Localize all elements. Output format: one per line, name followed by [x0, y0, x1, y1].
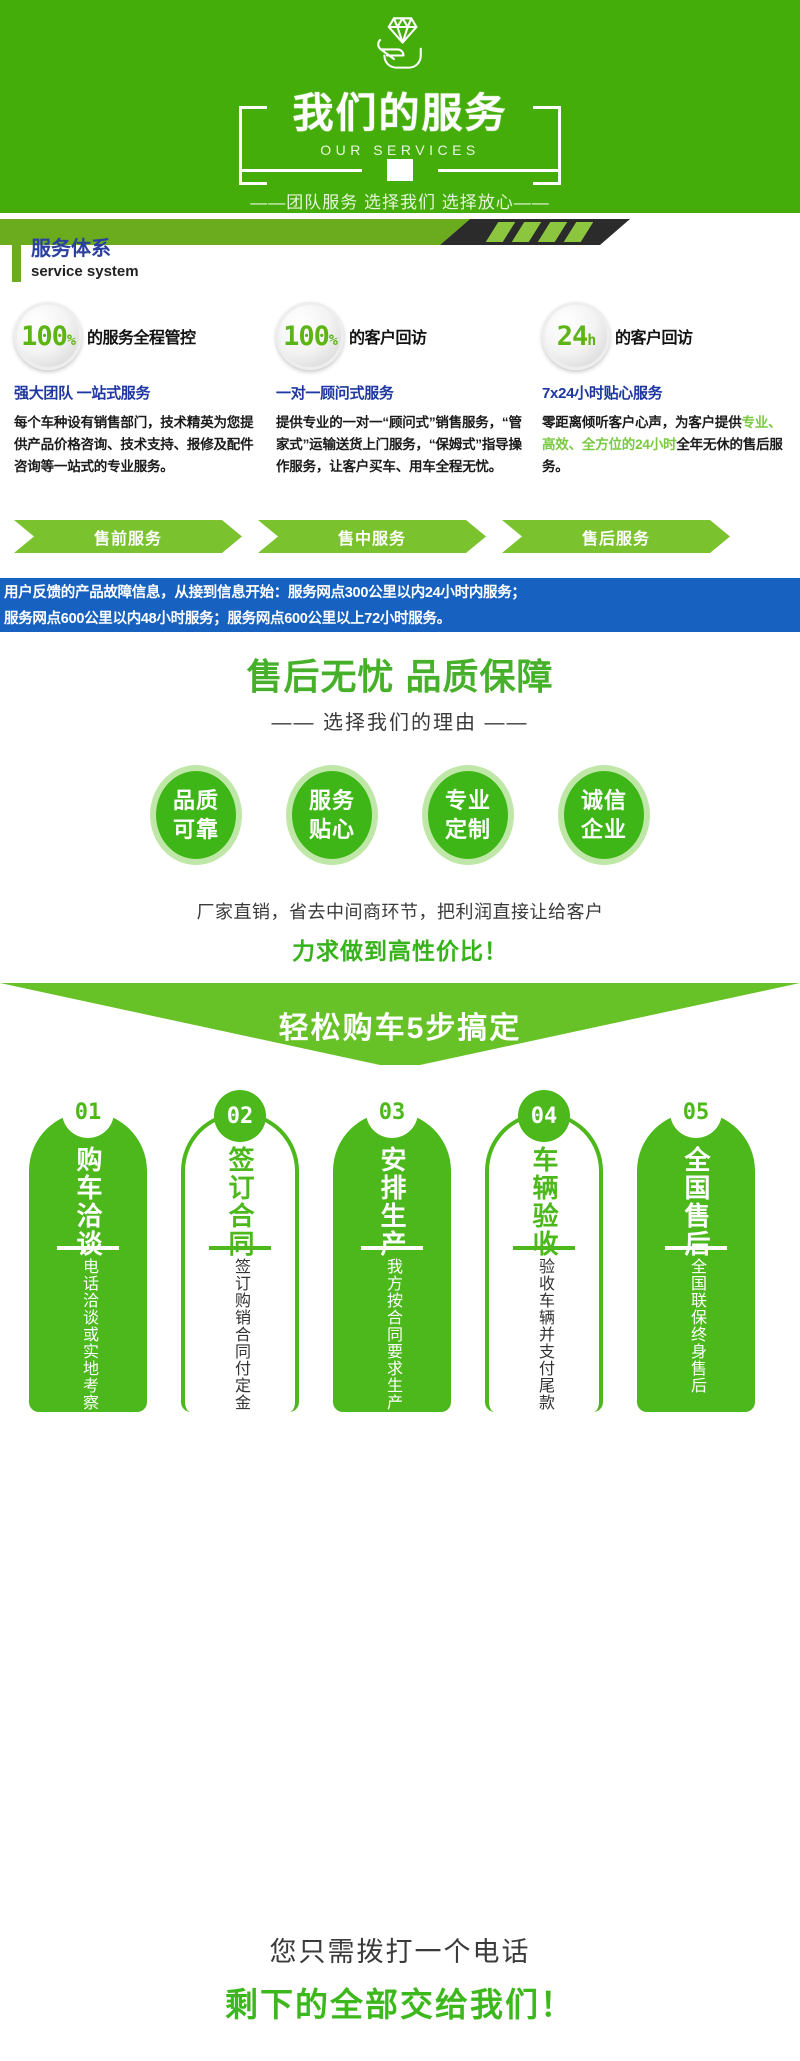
step-03-rule	[361, 1246, 423, 1250]
reason-oval-service: 服务 贴心	[286, 765, 378, 865]
metric-badge-1: 100%	[14, 302, 82, 370]
step-05-rule	[665, 1246, 727, 1250]
step-03-number: 03	[366, 1086, 418, 1138]
frame-bottom-left	[242, 169, 362, 172]
chevron-after-sales[interactable]: 售后服务	[502, 520, 730, 553]
step-04-number: 04	[518, 1090, 570, 1142]
service-column-3: 24h 的客户回访 7x24小时贴心服务 零距离倾听客户心声，为客户提供专业、高…	[532, 300, 798, 478]
step-04-rule	[513, 1246, 575, 1250]
step-05-desc: 全国联保终身售后	[684, 1258, 708, 1394]
page-title-en: OUR SERVICES	[239, 142, 561, 158]
reason-oval-3-line1: 专业	[445, 786, 491, 815]
hero-subtitle: ——团队服务 选择我们 选择放心——	[250, 188, 549, 213]
step-01-number: 01	[62, 1086, 114, 1138]
step-03-title: 安排生产	[375, 1146, 409, 1238]
footer-line-1: 您只需拨打一个电话	[0, 1930, 800, 1969]
service-columns: 100% 的服务全程管控 强大团队 一站式服务 每个车种设有销售部门，技术精英为…	[0, 300, 800, 478]
step-02-pill: 02 签订合同 签订购销合同付定金	[181, 1112, 299, 1412]
service-column-2-head: 一对一顾问式服务	[276, 382, 522, 403]
reason-oval-1-line1: 品质	[173, 786, 219, 815]
title-frame: 我们的服务 OUR SERVICES	[239, 82, 561, 172]
service-column-1-head: 强大团队 一站式服务	[14, 382, 256, 403]
step-05[interactable]: 05 全国售后 全国联保终身售后	[626, 1112, 766, 1412]
metric-badge-1-value: 100%	[21, 321, 75, 352]
section-heading-service-system: 服务体系 service system	[12, 238, 139, 282]
hero-banner: 我们的服务 OUR SERVICES ——团队服务 选择我们 选择放心——	[0, 0, 800, 213]
reason-oval-integrity: 诚信 企业	[558, 765, 650, 865]
reason-oval-2-line2: 贴心	[309, 815, 355, 844]
reason-oval-quality: 品质 可靠	[150, 765, 242, 865]
step-02-title: 签订合同	[223, 1146, 257, 1238]
step-02[interactable]: 02 签订合同 签订购销合同付定金	[170, 1112, 310, 1412]
chevron-pre-sales[interactable]: 售前服务	[14, 520, 242, 553]
service-column-1: 100% 的服务全程管控 强大团队 一站式服务 每个车种设有销售部门，技术精英为…	[0, 300, 266, 478]
step-02-rule	[209, 1246, 271, 1250]
service-stage-chevrons: 售前服务 售中服务 售后服务	[14, 520, 794, 553]
notice-line-2: 服务网点600公里以内48小时服务；服务网点600公里以上72小时服务。	[4, 606, 796, 632]
section-label-cn: 服务体系	[31, 238, 139, 261]
metric-badge-3: 24h	[542, 302, 610, 370]
promo-line-1: 厂家直销，省去中间商环节，把利润直接让给客户	[0, 898, 800, 924]
step-01-pill: 01 购车洽谈 电话洽谈或实地考察	[29, 1112, 147, 1412]
title-notch	[387, 159, 413, 181]
reason-oval-3-line2: 定制	[445, 815, 491, 844]
step-01-title: 购车洽谈	[71, 1146, 105, 1238]
service-column-2-body: 提供专业的一对一“顾问式”销售服务，“管家式”运输送货上门服务，“保姆式”指导操…	[276, 412, 522, 478]
reason-oval-1-line2: 可靠	[173, 815, 219, 844]
step-03-pill: 03 安排生产 我方按合同要求生产	[333, 1112, 451, 1412]
metric-badge-1-caption: 的服务全程管控	[87, 324, 196, 348]
purchase-steps: 01 购车洽谈 电话洽谈或实地考察 02 签订合同 签订购销合同付定金 03 安…	[18, 1112, 782, 1412]
step-02-desc: 签订购销合同付定金	[228, 1258, 252, 1408]
step-04-desc: 验收车辆并支付尾款	[532, 1258, 556, 1408]
chevron-in-sales[interactable]: 售中服务	[258, 520, 486, 553]
step-05-title: 全国售后	[679, 1146, 713, 1238]
badge-row-1: 100% 的服务全程管控	[14, 300, 256, 372]
step-04-title: 车辆验收	[527, 1146, 561, 1238]
service-column-1-body: 每个车种设有销售部门，技术精英为您提供产品价格咨询、技术支持、报修及配件咨询等一…	[14, 412, 256, 478]
badge-row-3: 24h 的客户回访	[542, 300, 788, 372]
section-accent-bar	[12, 240, 21, 282]
metric-badge-2-caption: 的客户回访	[349, 324, 427, 348]
page-title-cn: 我们的服务	[239, 88, 561, 138]
service-column-3-head: 7x24小时贴心服务	[542, 382, 788, 403]
step-04[interactable]: 04 车辆验收 验收车辆并支付尾款	[474, 1112, 614, 1412]
metric-badge-3-caption: 的客户回访	[615, 324, 693, 348]
reason-oval-4-line1: 诚信	[581, 786, 627, 815]
reasons-title: 售后无忧 品质保障	[0, 648, 800, 700]
reason-oval-custom: 专业 定制	[422, 765, 514, 865]
metric-badge-2: 100%	[276, 302, 344, 370]
step-05-number: 05	[670, 1086, 722, 1138]
step-01[interactable]: 01 购车洽谈 电话洽谈或实地考察	[18, 1112, 158, 1412]
reasons-subtitle: —— 选择我们的理由 ——	[0, 706, 800, 735]
step-01-desc: 电话洽谈或实地考察	[76, 1258, 100, 1408]
promo-line-2: 力求做到高性价比！	[0, 932, 800, 966]
diamond-in-hand-icon	[369, 14, 431, 78]
service-notice-bar: 用户反馈的产品故障信息，从接到信息开始：服务网点300公里以内24小时内服务； …	[0, 578, 800, 632]
metric-badge-3-value: 24h	[557, 321, 596, 352]
step-01-rule	[57, 1246, 119, 1250]
reason-oval-4-line2: 企业	[581, 815, 627, 844]
service-column-2: 100% 的客户回访 一对一顾问式服务 提供专业的一对一“顾问式”销售服务，“管…	[266, 300, 532, 478]
step-04-pill: 04 车辆验收 验收车辆并支付尾款	[485, 1112, 603, 1412]
section-label-en: service system	[31, 262, 139, 281]
step-05-pill: 05 全国售后 全国联保终身售后	[637, 1112, 755, 1412]
frame-bottom-right	[438, 169, 558, 172]
notice-line-1: 用户反馈的产品故障信息，从接到信息开始：服务网点300公里以内24小时内服务；	[4, 580, 796, 606]
service-column-3-body: 零距离倾听客户心声，为客户提供专业、高效、全方位的24小时全年无休的售后服务。	[542, 412, 788, 478]
reason-ovals: 品质 可靠 服务 贴心 专业 定制 诚信 企业	[0, 765, 800, 865]
steps-header-label: 轻松购车5步搞定	[0, 1003, 800, 1047]
reason-oval-2-line1: 服务	[309, 786, 355, 815]
footer-line-2: 剩下的全部交给我们！	[0, 1978, 800, 2026]
step-03-desc: 我方按合同要求生产	[380, 1258, 404, 1408]
step-02-number: 02	[214, 1090, 266, 1142]
badge-row-2: 100% 的客户回访	[276, 300, 522, 372]
metric-badge-2-value: 100%	[283, 321, 337, 352]
step-03[interactable]: 03 安排生产 我方按合同要求生产	[322, 1112, 462, 1412]
